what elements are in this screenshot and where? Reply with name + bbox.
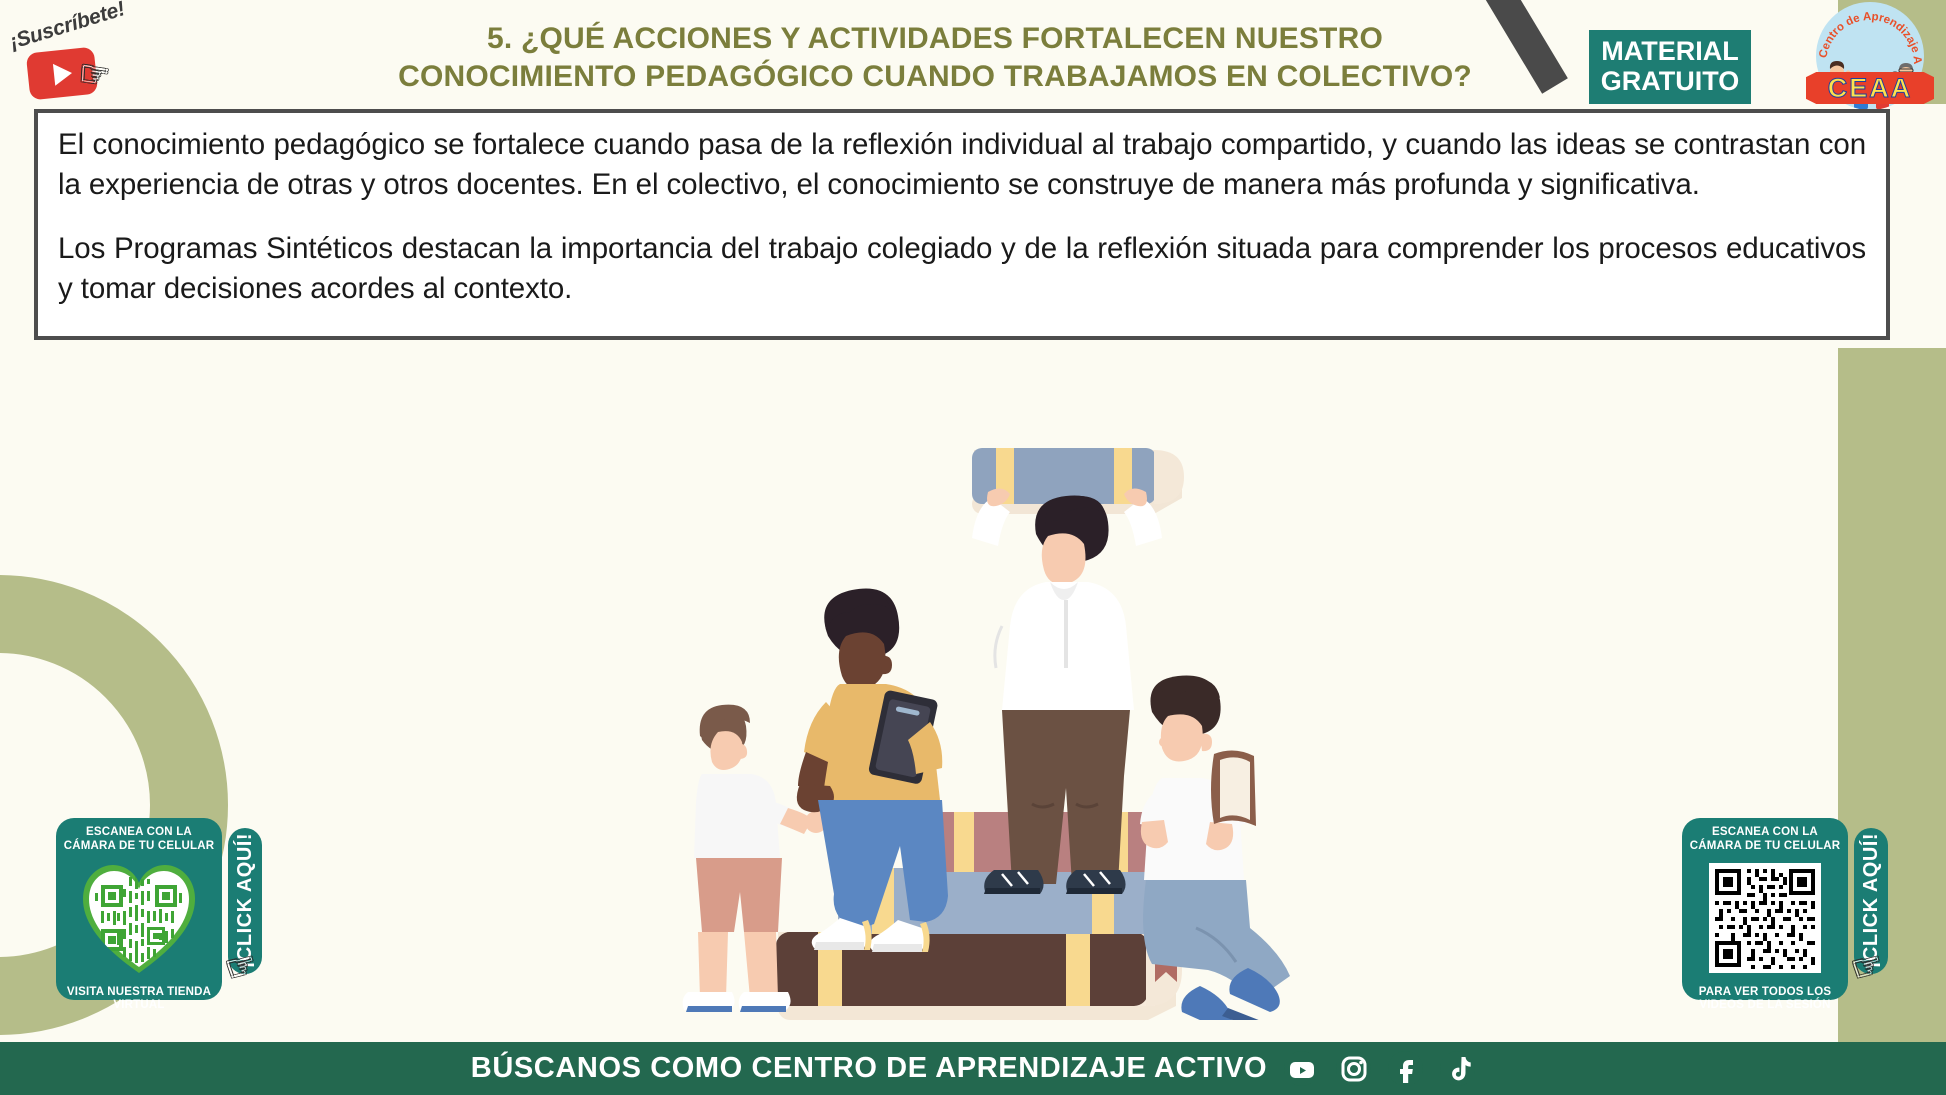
qr-left-caption-top-line1: ESCANEA CON LA bbox=[62, 826, 216, 840]
qr-left-caption-bottom: VISITA NUESTRA TIENDA VIRTUAL bbox=[62, 986, 216, 1014]
instagram-icon[interactable] bbox=[1336, 1051, 1371, 1086]
qr-right-caption-bottom: PARA VER TODOS LOS VIDEOS DE LA SESIÓN bbox=[1688, 986, 1842, 1014]
footer-bar: BÚSCANOS COMO CENTRO DE APRENDIZAJE ACTI… bbox=[0, 1042, 1946, 1095]
person-with-tablet bbox=[797, 588, 948, 952]
page-title: 5. ¿QUÉ ACCIONES Y ACTIVIDADES FORTALECE… bbox=[290, 20, 1580, 97]
illustration-svg bbox=[640, 440, 1300, 1020]
qr-right-caption-top-line2: CÁMARA DE TU CELULAR bbox=[1688, 840, 1842, 854]
ceaa-ribbon-text: CEAA bbox=[1828, 75, 1913, 102]
page-title-line-2: CONOCIMIENTO PEDAGÓGICO CUANDO TRABAJAMO… bbox=[290, 58, 1580, 96]
students-on-book-stack-illustration bbox=[640, 440, 1300, 1020]
qr-right-caption-bottom-line1: PARA VER TODOS LOS bbox=[1688, 986, 1842, 1000]
qr-left-caption-bottom-line2: VIRTUAL bbox=[62, 999, 216, 1013]
qr-right-caption-top-line1: ESCANEA CON LA bbox=[1688, 826, 1842, 840]
slide-canvas: ¡Suscríbete! ☞ 5. ¿QUÉ ACCIONES Y ACTIVI… bbox=[0, 0, 1946, 1095]
youtube-icon[interactable] bbox=[1284, 1051, 1319, 1086]
content-paragraph-spacer bbox=[58, 205, 1866, 229]
qr-right-caption-top: ESCANEA CON LA CÁMARA DE TU CELULAR bbox=[1688, 826, 1842, 854]
content-paragraph-1: El conocimiento pedagógico se fortalece … bbox=[58, 125, 1866, 205]
subscribe-label: ¡Suscríbete! bbox=[7, 0, 128, 55]
ceaa-ribbon: CEAA bbox=[1806, 72, 1934, 104]
facebook-icon[interactable] bbox=[1388, 1051, 1423, 1086]
page-title-line-1: 5. ¿QUÉ ACCIONES Y ACTIVIDADES FORTALECE… bbox=[290, 20, 1580, 58]
ceaa-logo: Centro de Aprendizaje Activo bbox=[1806, 2, 1934, 102]
material-gratuito-badge: MATERIAL GRATUITO bbox=[1589, 30, 1751, 104]
qr-left-caption-bottom-line1: VISITA NUESTRA TIENDA bbox=[62, 986, 216, 1000]
qr-badge-store[interactable]: ESCANEA CON LA CÁMARA DE TU CELULAR bbox=[56, 818, 222, 1000]
qr-right-caption-bottom-line2: VIDEOS DE LA SESIÓN bbox=[1688, 999, 1842, 1013]
qr-left-caption-top: ESCANEA CON LA CÁMARA DE TU CELULAR bbox=[62, 826, 216, 854]
qr-code-icon[interactable] bbox=[1705, 859, 1825, 977]
youtube-subscribe-badge[interactable]: ¡Suscríbete! ☞ bbox=[6, 6, 156, 100]
heart-qr-code-icon[interactable] bbox=[79, 859, 199, 977]
content-paragraph-2: Los Programas Sintéticos destacan la imp… bbox=[58, 229, 1866, 309]
footer-text: BÚSCANOS COMO CENTRO DE APRENDIZAJE ACTI… bbox=[471, 1052, 1267, 1085]
pointing-hand-icon: ☞ bbox=[77, 56, 112, 94]
qr-badge-videos[interactable]: ESCANEA CON LA CÁMARA DE TU CELULAR bbox=[1682, 818, 1848, 1000]
material-badge-line-2: GRATUITO bbox=[1595, 66, 1745, 96]
qr-left-caption-top-line2: CÁMARA DE TU CELULAR bbox=[62, 840, 216, 854]
tiktok-icon[interactable] bbox=[1440, 1051, 1475, 1086]
content-text-box: El conocimiento pedagógico se fortalece … bbox=[34, 109, 1890, 340]
material-badge-line-1: MATERIAL bbox=[1595, 36, 1745, 66]
